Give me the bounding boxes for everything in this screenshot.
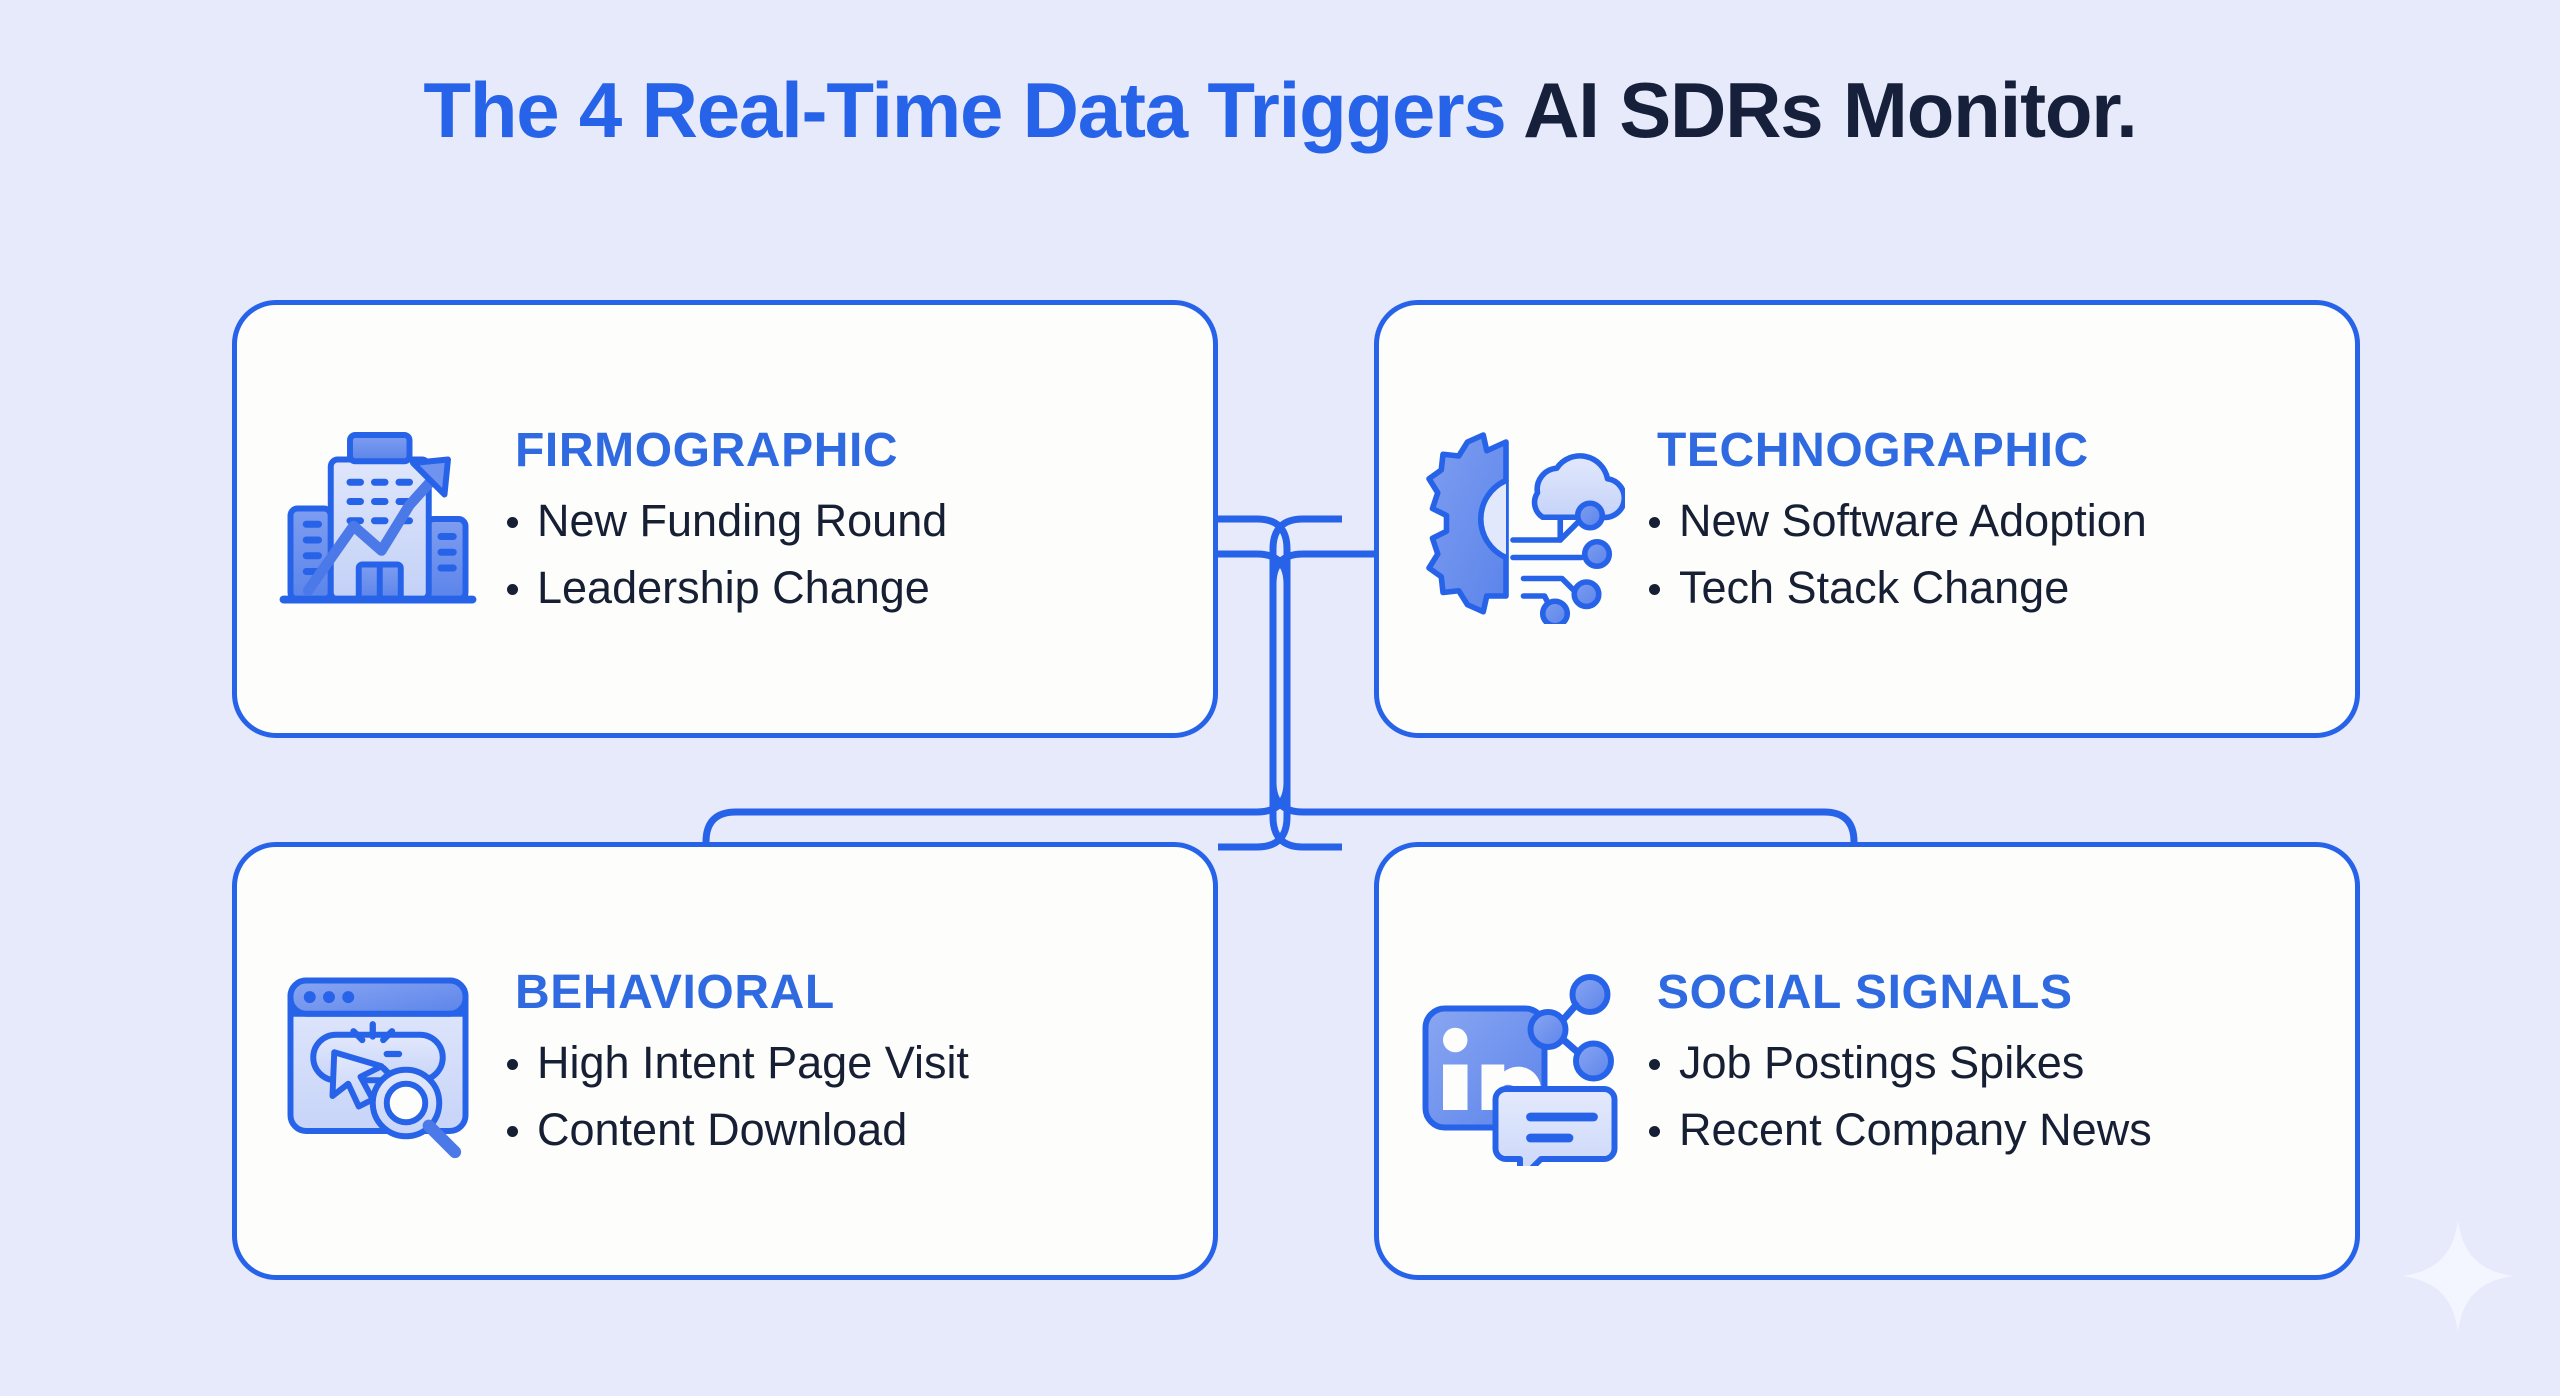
list-item: High Intent Page Visit [501,1039,1213,1086]
linkedin-share-chat-icon [1415,956,1625,1166]
list-item: Leadership Change [501,564,1213,611]
bullet-list-social-signals: Job Postings Spikes Recent Company News [1643,1039,2355,1153]
browser-cursor-search-icon [273,956,483,1166]
bullet-list-behavioral: High Intent Page Visit Content Download [501,1039,1213,1153]
sparkle-icon [2398,1216,2518,1336]
card-behavioral[interactable]: BEHAVIORAL High Intent Page Visit Conten… [232,842,1218,1280]
bullet-list-firmographic: New Funding Round Leadership Change [501,497,1213,611]
card-body-technographic: TECHNOGRAPHIC New Software Adoption Tech… [1643,427,2355,611]
trigger-card-grid: FIRMOGRAPHIC New Funding Round Leadershi… [232,300,2360,1280]
card-title-social-signals: SOCIAL SIGNALS [1643,969,2355,1017]
list-item: Tech Stack Change [1643,564,2355,611]
list-item: Job Postings Spikes [1643,1039,2355,1086]
card-social-signals[interactable]: SOCIAL SIGNALS Job Postings Spikes Recen… [1374,842,2360,1280]
card-body-firmographic: FIRMOGRAPHIC New Funding Round Leadershi… [501,427,1213,611]
office-building-growth-chart-icon [273,414,483,624]
card-firmographic[interactable]: FIRMOGRAPHIC New Funding Round Leadershi… [232,300,1218,738]
card-technographic[interactable]: TECHNOGRAPHIC New Software Adoption Tech… [1374,300,2360,738]
bullet-list-technographic: New Software Adoption Tech Stack Change [1643,497,2355,611]
card-title-firmographic: FIRMOGRAPHIC [501,427,1213,475]
page-title-rest: AI SDRs Monitor. [1506,66,2137,154]
list-item: Recent Company News [1643,1106,2355,1153]
card-body-behavioral: BEHAVIORAL High Intent Page Visit Conten… [501,969,1213,1153]
card-title-behavioral: BEHAVIORAL [501,969,1213,1017]
gear-cloud-circuit-icon [1415,414,1625,624]
page-title-highlight: The 4 Real-Time Data Triggers [423,66,1505,154]
list-item: Content Download [501,1106,1213,1153]
card-body-social-signals: SOCIAL SIGNALS Job Postings Spikes Recen… [1643,969,2355,1153]
page-title: The 4 Real-Time Data Triggers AI SDRs Mo… [0,68,2560,154]
list-item: New Funding Round [501,497,1213,544]
card-title-technographic: TECHNOGRAPHIC [1643,427,2355,475]
list-item: New Software Adoption [1643,497,2355,544]
